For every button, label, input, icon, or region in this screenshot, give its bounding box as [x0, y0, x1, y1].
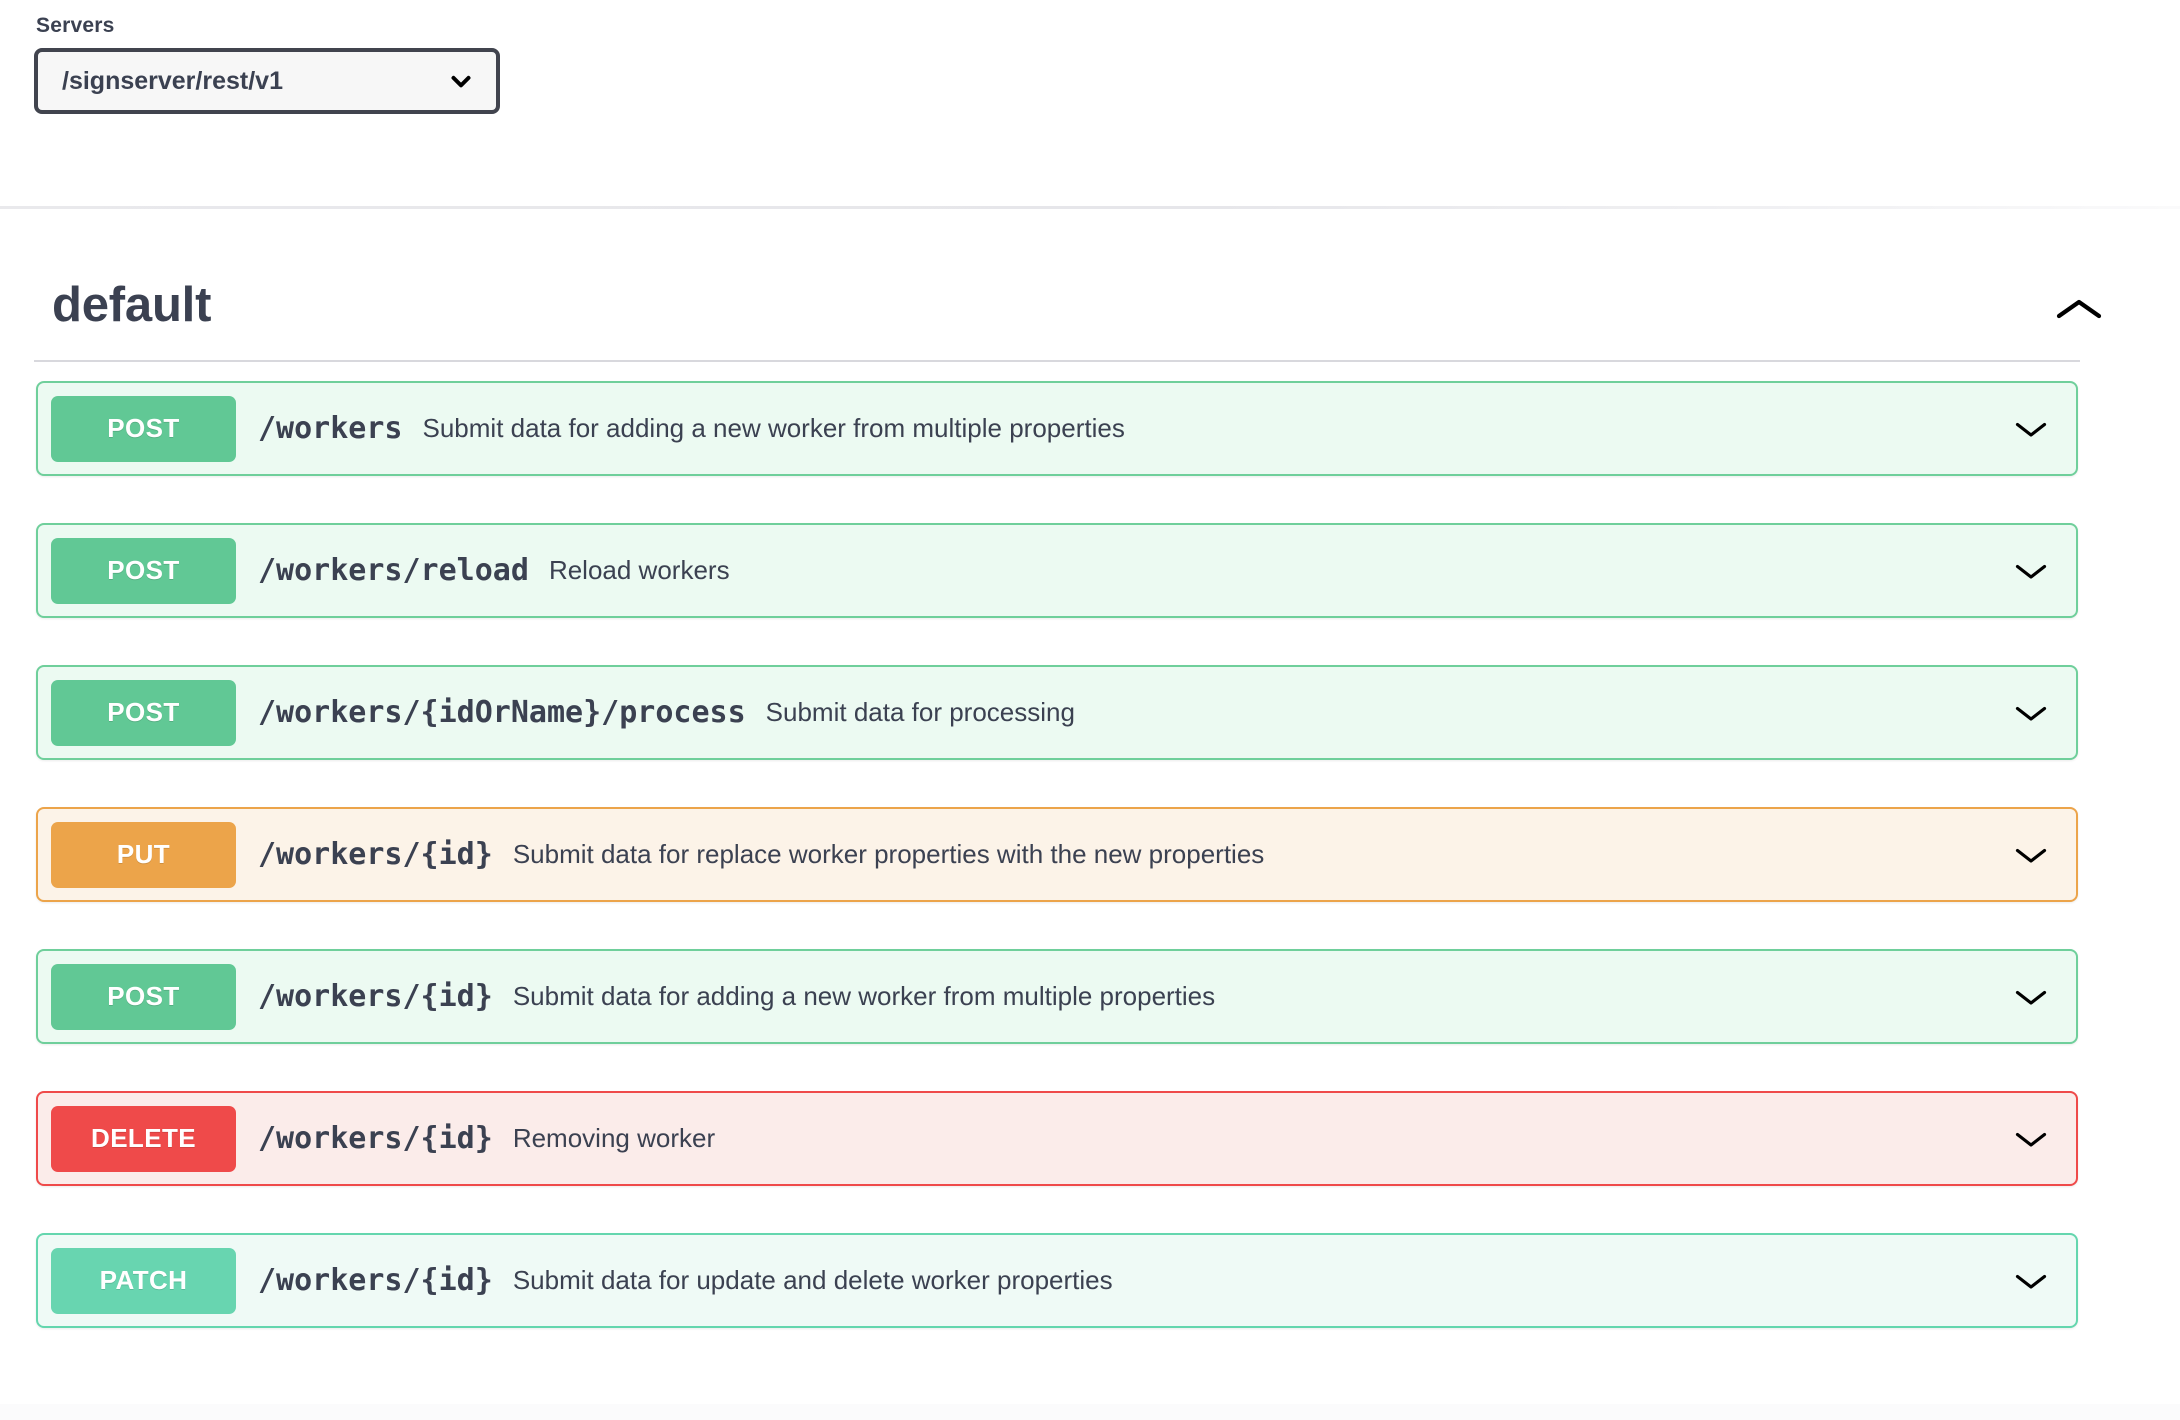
operation-row[interactable]: POST /workers/reload Reload workers [36, 523, 2078, 618]
chevron-down-icon[interactable] [1999, 1119, 2063, 1159]
operation-row[interactable]: DELETE /workers/{id} Removing worker [36, 1091, 2078, 1186]
method-badge: POST [51, 396, 236, 462]
page-title: default [52, 281, 211, 330]
bottom-band [0, 1404, 2180, 1420]
operation-summary: Submit data for adding a new worker from… [513, 981, 1989, 1012]
servers-divider [0, 206, 2180, 209]
operation-path: /workers/reload [258, 553, 529, 588]
tag-section-divider [34, 360, 2080, 362]
servers-label: Servers [36, 14, 500, 38]
operation-row[interactable]: PATCH /workers/{id} Submit data for upda… [36, 1233, 2078, 1328]
method-badge: PUT [51, 822, 236, 888]
chevron-down-icon[interactable] [1999, 977, 2063, 1017]
chevron-down-icon [444, 64, 478, 98]
method-badge: DELETE [51, 1106, 236, 1172]
operation-path: /workers/{id} [258, 837, 493, 872]
server-select[interactable]: /signserver/rest/v1 [34, 48, 500, 114]
operation-row[interactable]: POST /workers/{idOrName}/process Submit … [36, 665, 2078, 760]
operation-row[interactable]: POST /workers/{id} Submit data for addin… [36, 949, 2078, 1044]
operation-summary: Submit data for replace worker propertie… [513, 839, 1989, 870]
tag-section-header[interactable]: default [52, 250, 2146, 360]
method-badge: POST [51, 680, 236, 746]
operation-path: /workers/{id} [258, 1121, 493, 1156]
operation-summary: Removing worker [513, 1123, 1989, 1154]
server-select-value: /signserver/rest/v1 [62, 67, 444, 96]
chevron-down-icon[interactable] [1999, 551, 2063, 591]
chevron-down-icon[interactable] [1999, 693, 2063, 733]
method-badge: POST [51, 964, 236, 1030]
operation-path: /workers [258, 411, 403, 446]
servers-block: Servers /signserver/rest/v1 [34, 14, 500, 114]
operation-path: /workers/{idOrName}/process [258, 695, 746, 730]
chevron-down-icon[interactable] [1999, 409, 2063, 449]
operations-list: POST /workers Submit data for adding a n… [0, 381, 2180, 1328]
chevron-up-icon[interactable] [2048, 290, 2110, 330]
operation-summary: Submit data for adding a new worker from… [423, 413, 1990, 444]
operation-path: /workers/{id} [258, 979, 493, 1014]
chevron-down-icon[interactable] [1999, 835, 2063, 875]
operation-summary: Submit data for processing [766, 697, 1989, 728]
operation-path: /workers/{id} [258, 1263, 493, 1298]
operation-summary: Reload workers [549, 555, 1989, 586]
swagger-ui-page: Servers /signserver/rest/v1 default POST… [0, 0, 2180, 1420]
method-badge: PATCH [51, 1248, 236, 1314]
operation-row[interactable]: POST /workers Submit data for adding a n… [36, 381, 2078, 476]
operation-row[interactable]: PUT /workers/{id} Submit data for replac… [36, 807, 2078, 902]
chevron-down-icon[interactable] [1999, 1261, 2063, 1301]
tag-section-default: default POST /workers Submit data for ad… [0, 250, 2180, 1328]
method-badge: POST [51, 538, 236, 604]
operation-summary: Submit data for update and delete worker… [513, 1265, 1989, 1296]
